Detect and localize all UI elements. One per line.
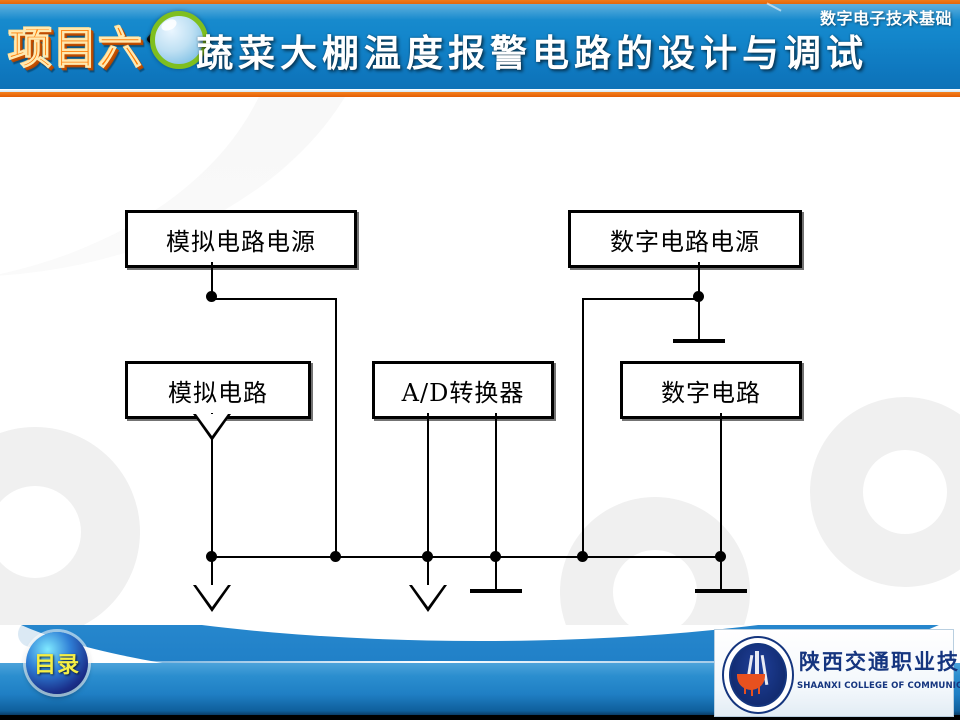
wire-ad-left-drop <box>427 413 429 558</box>
ground-symbol-bar-ad-right <box>470 589 522 593</box>
block-analog-circuit: 模拟电路 <box>125 361 311 419</box>
block-ad-converter-label: A/D转换器 <box>402 373 525 408</box>
ground-wiring-diagram: 模拟电路电源 数字电路电源 模拟电路 A/D转换器 数字电路 <box>0 97 960 625</box>
school-name-en: SHAANXI COLLEGE OF COMMUNICATION TECHNOL… <box>797 680 952 690</box>
toc-button-label: 目录 <box>34 647 80 679</box>
toc-button[interactable]: 目录 <box>26 632 88 694</box>
emblem-arc-line <box>751 682 753 696</box>
junction-dot <box>422 551 433 562</box>
emblem-arc-line <box>744 682 746 694</box>
junction-dot <box>206 551 217 562</box>
wire-analog-power-to-bus-h <box>211 298 337 300</box>
slide-canvas: 数字电子技术基础 项目六 蔬菜大棚温度报警电路的设计与调试 模拟电路电源 数 <box>0 0 960 720</box>
school-logo: 陕西交通职业技术学院 SHAANXI COLLEGE OF COMMUNICAT… <box>714 629 954 717</box>
junction-dot <box>330 551 341 562</box>
block-ad-converter: A/D转换器 <box>372 361 554 419</box>
block-analog-circuit-label: 模拟电路 <box>168 373 268 408</box>
wire-digital-power-ground-stem <box>698 298 700 340</box>
emblem-arc-line <box>758 682 760 694</box>
junction-dot <box>715 551 726 562</box>
page-title: 蔬菜大棚温度报警电路的设计与调试 <box>196 22 952 84</box>
junction-dot <box>206 291 217 302</box>
ground-bus <box>211 556 721 558</box>
block-digital-power-label: 数字电路电源 <box>610 222 760 257</box>
block-digital-circuit-label: 数字电路 <box>661 373 761 408</box>
ground-symbol-bar-digital-circuit <box>695 589 747 593</box>
junction-dot <box>577 551 588 562</box>
ground-symbol-bar-digital-power <box>673 339 725 343</box>
wire-ad-right-drop <box>495 413 497 558</box>
block-analog-power-label: 模拟电路电源 <box>166 222 316 257</box>
junction-dot <box>693 291 704 302</box>
wire-digital-power-to-bus-v <box>582 298 584 558</box>
wire-digital-power-to-bus-h <box>582 298 700 300</box>
slide-body: 模拟电路电源 数字电路电源 模拟电路 A/D转换器 数字电路 <box>0 97 960 625</box>
slide-header: 数字电子技术基础 项目六 蔬菜大棚温度报警电路的设计与调试 <box>0 0 960 97</box>
junction-dot <box>490 551 501 562</box>
wire-digital-circuit-drop <box>720 413 722 558</box>
block-analog-power: 模拟电路电源 <box>125 210 357 268</box>
wire-analog-power-to-bus-v <box>335 298 337 558</box>
block-digital-power: 数字电路电源 <box>568 210 802 268</box>
block-digital-circuit: 数字电路 <box>620 361 802 419</box>
school-emblem-icon <box>722 636 794 714</box>
school-name-cn: 陕西交通职业技术学院 <box>799 646 960 676</box>
